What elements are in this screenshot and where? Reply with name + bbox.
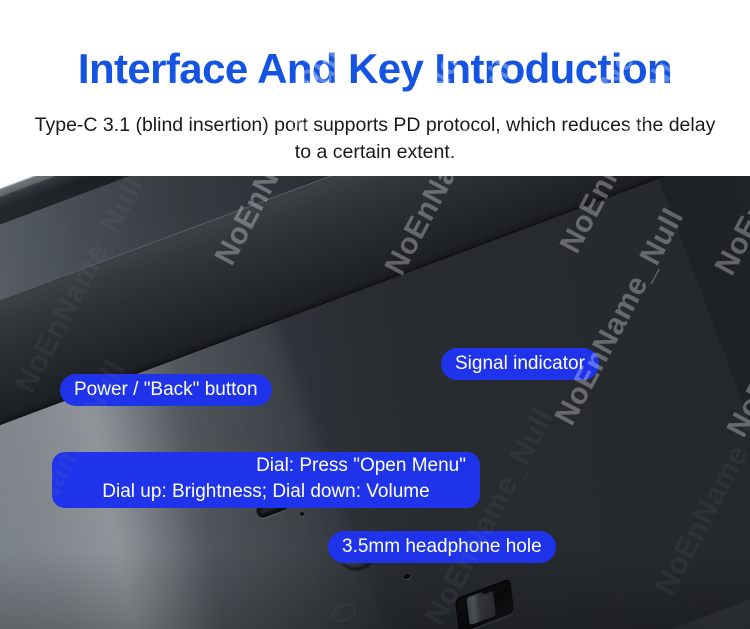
callout-dial: Dial: Press "Open Menu" Dial up: Brightn… [52, 452, 480, 508]
header: Interface And Key Introduction Type-C 3.… [0, 0, 750, 176]
callout-headphone-hole: 3.5mm headphone hole [328, 531, 556, 563]
page-title: Interface And Key Introduction [0, 46, 750, 92]
product-infographic-page: Interface And Key Introduction Type-C 3.… [0, 0, 750, 629]
page-subtitle: Type-C 3.1 (blind insertion) port suppor… [26, 112, 724, 166]
callout-dial-line-1: Dial: Press "Open Menu" [64, 453, 468, 479]
callout-power-back-button: Power / "Back" button [60, 374, 272, 406]
screw-dot [300, 512, 304, 516]
callout-signal-indicator: Signal indicator [441, 348, 599, 380]
callout-dial-line-2: Dial up: Brightness; Dial down: Volume [64, 479, 468, 505]
